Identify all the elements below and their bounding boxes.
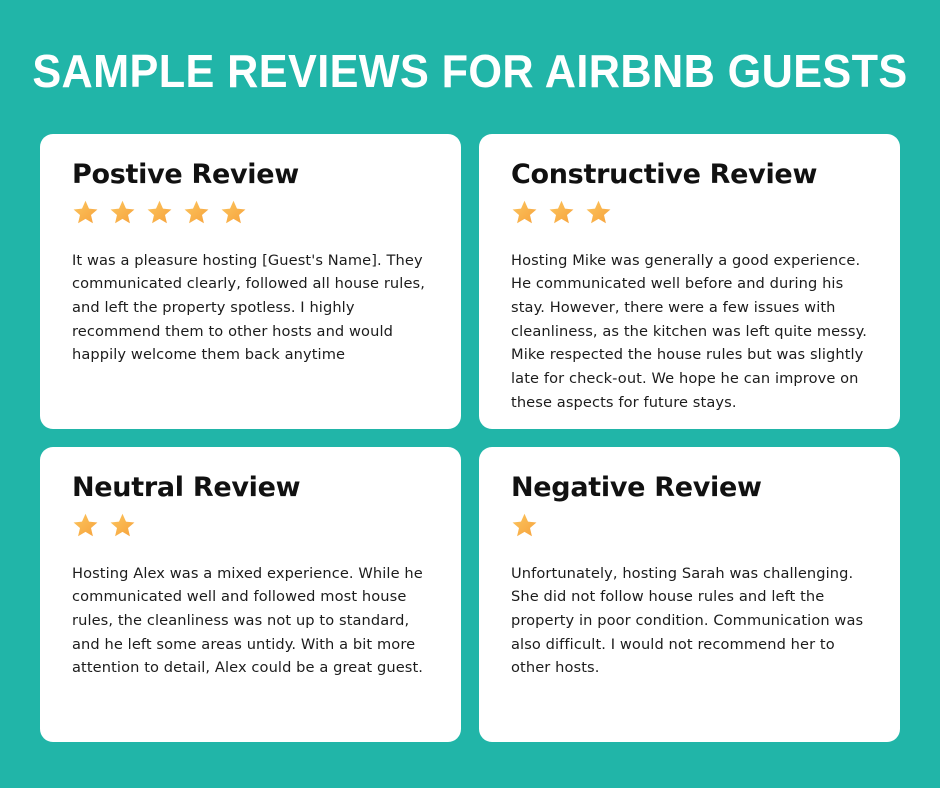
review-card-grid: Postive Review It was a pleasure hosting… bbox=[40, 134, 900, 742]
review-card-positive: Postive Review It was a pleasure hosting… bbox=[40, 134, 461, 429]
review-card-negative: Negative Review Unfortunately, hosting S… bbox=[479, 447, 900, 742]
card-heading: Neutral Review bbox=[72, 473, 431, 503]
card-body-text: Unfortunately, hosting Sarah was challen… bbox=[511, 562, 870, 680]
star-icon bbox=[548, 199, 575, 226]
card-heading: Negative Review bbox=[511, 473, 870, 503]
star-rating bbox=[72, 199, 431, 227]
page-title: SAMPLE REVIEWS FOR AIRBNB GUESTS bbox=[28, 48, 912, 94]
star-icon bbox=[109, 199, 136, 226]
review-card-constructive: Constructive Review Hosting Mike was gen… bbox=[479, 134, 900, 429]
card-heading: Postive Review bbox=[72, 160, 431, 190]
star-icon bbox=[183, 199, 210, 226]
star-icon bbox=[72, 512, 99, 539]
star-icon bbox=[109, 512, 136, 539]
card-heading: Constructive Review bbox=[511, 160, 870, 190]
star-icon bbox=[585, 199, 612, 226]
poster-root: SAMPLE REVIEWS FOR AIRBNB GUESTS Postive… bbox=[0, 0, 940, 788]
star-icon bbox=[220, 199, 247, 226]
star-rating bbox=[511, 512, 870, 540]
star-icon bbox=[511, 512, 538, 539]
star-icon bbox=[511, 199, 538, 226]
star-rating bbox=[511, 199, 870, 227]
star-rating bbox=[72, 512, 431, 540]
card-body-text: Hosting Mike was generally a good experi… bbox=[511, 249, 870, 414]
star-icon bbox=[72, 199, 99, 226]
card-body-text: It was a pleasure hosting [Guest's Name]… bbox=[72, 249, 431, 367]
star-icon bbox=[146, 199, 173, 226]
review-card-neutral: Neutral Review Hosting Alex was a mixed … bbox=[40, 447, 461, 742]
card-body-text: Hosting Alex was a mixed experience. Whi… bbox=[72, 562, 431, 680]
